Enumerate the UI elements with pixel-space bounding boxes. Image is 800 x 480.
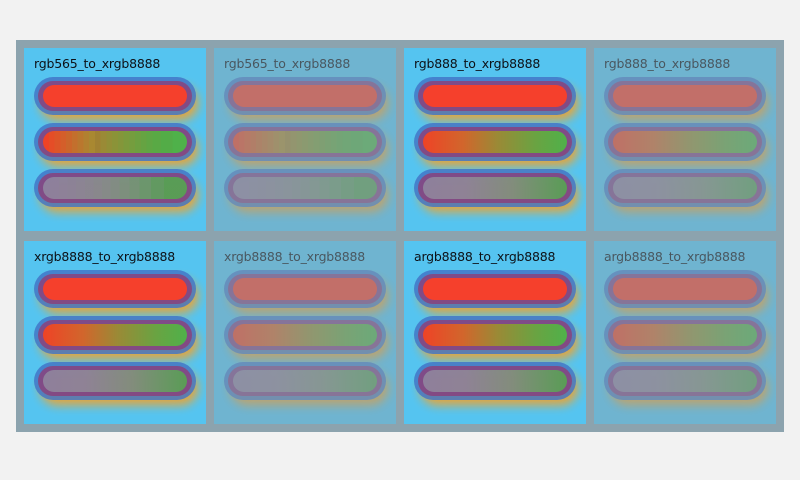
conversion-cell-title: xrgb8888_to_xrgb8888: [34, 249, 196, 264]
red-green-gradient-bar: [604, 316, 766, 354]
solid-red-bar: [604, 77, 766, 115]
translucent-gradient-bar: [34, 362, 196, 400]
bar-fill: [233, 370, 377, 392]
translucent-gradient-bar: [604, 169, 766, 207]
red-green-gradient-bar: [224, 123, 386, 161]
test-frame: rgb565_to_xrgb8888rgb565_to_xrgb8888rgb8…: [16, 40, 784, 432]
bar-fill: [423, 177, 567, 199]
translucent-gradient-bar: [224, 169, 386, 207]
solid-red-bar: [414, 270, 576, 308]
bar-fill: [613, 177, 757, 199]
bar-stack: [34, 77, 196, 207]
bar-fill: [233, 177, 377, 199]
bar-fill: [43, 278, 187, 300]
bar-fill: [613, 85, 757, 107]
conversion-cell[interactable]: rgb888_to_xrgb8888: [404, 48, 586, 231]
bar-fill: [43, 85, 187, 107]
translucent-gradient-bar: [34, 169, 196, 207]
solid-red-bar: [34, 77, 196, 115]
solid-red-bar: [34, 270, 196, 308]
bar-fill: [613, 131, 757, 153]
red-green-gradient-bar: [34, 316, 196, 354]
conversion-cell[interactable]: rgb888_to_xrgb8888: [594, 48, 776, 231]
bar-fill: [613, 278, 757, 300]
red-green-gradient-bar: [224, 316, 386, 354]
bar-stack: [414, 77, 576, 207]
bar-fill: [43, 324, 187, 346]
bar-fill: [423, 324, 567, 346]
solid-red-bar: [604, 270, 766, 308]
conversion-cell[interactable]: rgb565_to_xrgb8888: [214, 48, 396, 231]
conversion-cell-title: xrgb8888_to_xrgb8888: [224, 249, 386, 264]
conversion-cell-title: rgb888_to_xrgb8888: [414, 56, 576, 71]
bar-fill: [43, 131, 187, 153]
bar-fill: [423, 278, 567, 300]
bar-fill: [423, 85, 567, 107]
translucent-gradient-bar: [604, 362, 766, 400]
conversion-cell[interactable]: argb8888_to_xrgb8888: [594, 241, 776, 424]
conversion-cell-title: rgb888_to_xrgb8888: [604, 56, 766, 71]
bar-fill: [423, 131, 567, 153]
bar-fill: [43, 370, 187, 392]
bar-fill: [613, 370, 757, 392]
bar-stack: [34, 270, 196, 400]
conversion-cell[interactable]: argb8888_to_xrgb8888: [404, 241, 586, 424]
translucent-gradient-bar: [414, 169, 576, 207]
conversion-cell-title: rgb565_to_xrgb8888: [224, 56, 386, 71]
conversion-cell[interactable]: xrgb8888_to_xrgb8888: [24, 241, 206, 424]
conversion-cell[interactable]: rgb565_to_xrgb8888: [24, 48, 206, 231]
bar-stack: [604, 77, 766, 207]
conversion-cell[interactable]: xrgb8888_to_xrgb8888: [214, 241, 396, 424]
conversion-cell-grid: rgb565_to_xrgb8888rgb565_to_xrgb8888rgb8…: [16, 40, 784, 432]
bar-stack: [224, 270, 386, 400]
bar-stack: [414, 270, 576, 400]
bar-fill: [233, 85, 377, 107]
red-green-gradient-bar: [414, 316, 576, 354]
bar-stack: [224, 77, 386, 207]
bar-stack: [604, 270, 766, 400]
red-green-gradient-bar: [604, 123, 766, 161]
conversion-cell-title: argb8888_to_xrgb8888: [604, 249, 766, 264]
translucent-gradient-bar: [414, 362, 576, 400]
bar-fill: [43, 177, 187, 199]
red-green-gradient-bar: [34, 123, 196, 161]
translucent-gradient-bar: [224, 362, 386, 400]
bar-fill: [423, 370, 567, 392]
bar-fill: [233, 131, 377, 153]
bar-fill: [613, 324, 757, 346]
solid-red-bar: [224, 270, 386, 308]
solid-red-bar: [224, 77, 386, 115]
red-green-gradient-bar: [414, 123, 576, 161]
conversion-cell-title: rgb565_to_xrgb8888: [34, 56, 196, 71]
conversion-cell-title: argb8888_to_xrgb8888: [414, 249, 576, 264]
bar-fill: [233, 324, 377, 346]
solid-red-bar: [414, 77, 576, 115]
bar-fill: [233, 278, 377, 300]
